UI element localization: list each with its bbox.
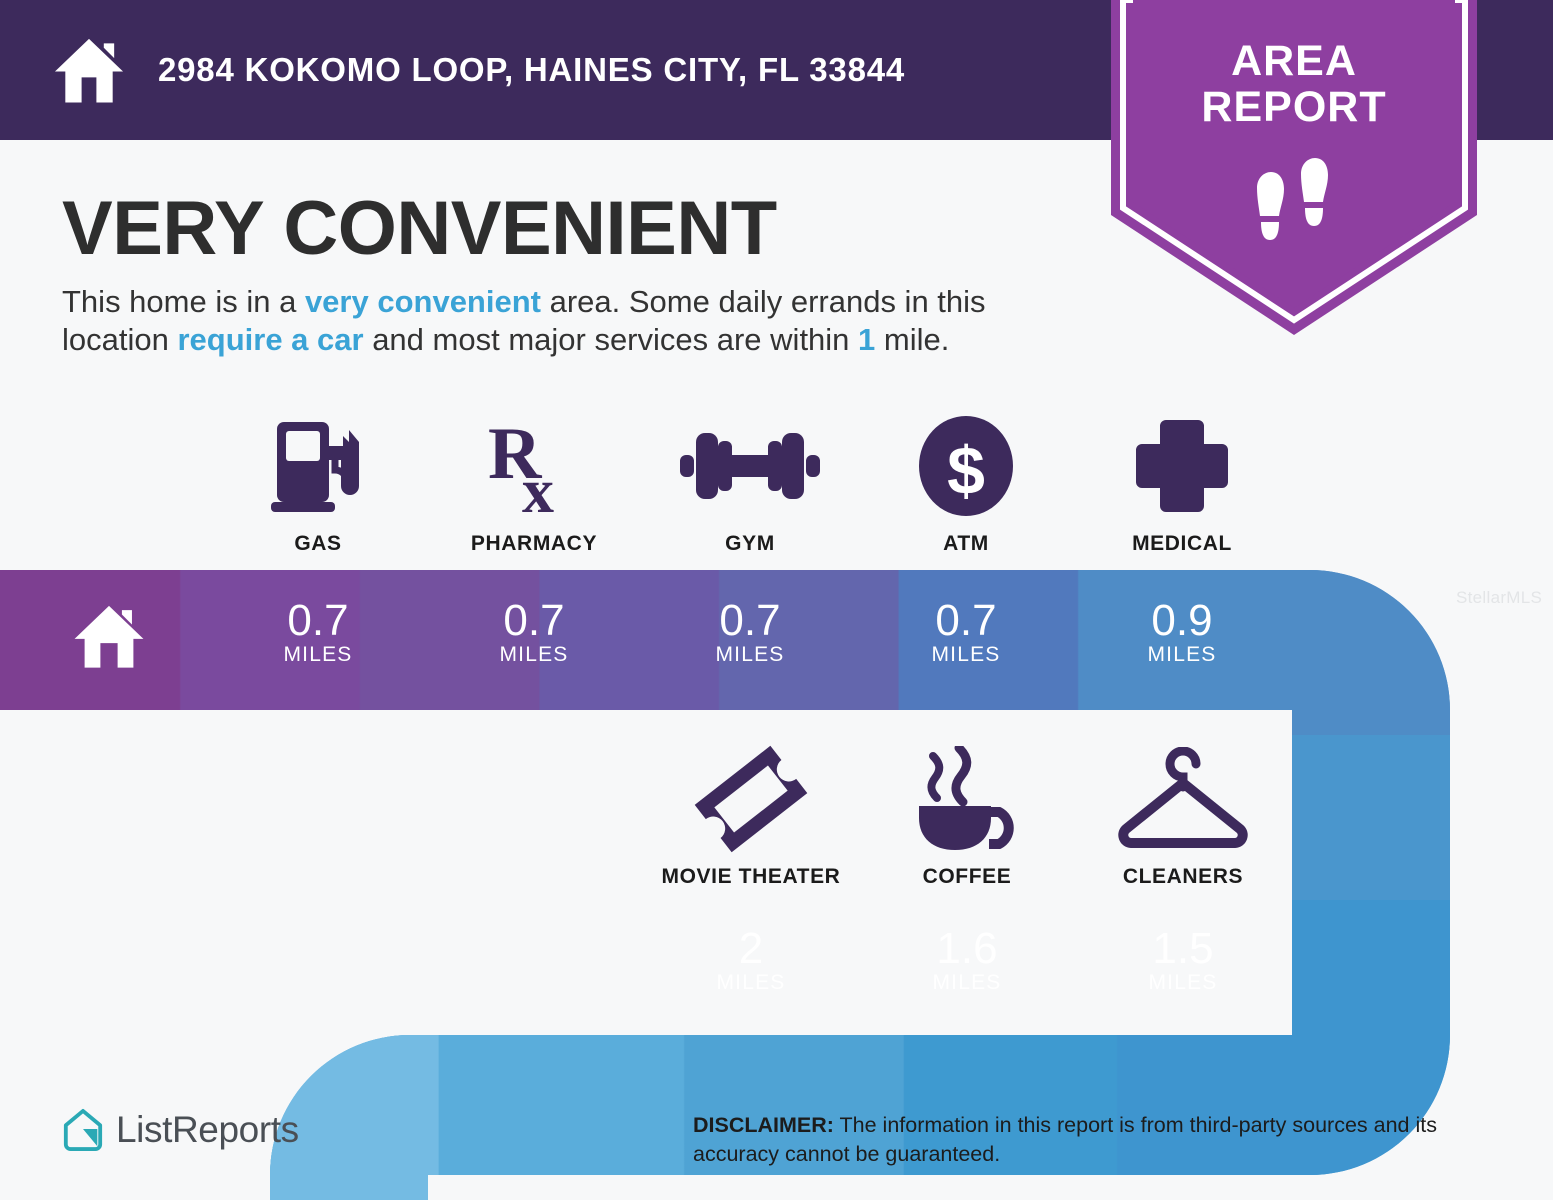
- summary-highlight-2: require a car: [177, 322, 363, 357]
- listreports-logo: ListReports: [62, 1108, 299, 1152]
- summary-part-3: and most major services are within: [364, 322, 858, 357]
- summary-highlight-3: 1: [858, 322, 875, 357]
- summary-part-1: This home is in a: [62, 284, 305, 319]
- movie-ticket-icon: [693, 745, 809, 853]
- amenity-label: PHARMACY: [471, 532, 597, 556]
- summary-highlight-1: very convenient: [305, 284, 541, 319]
- footprints-icon: [1243, 158, 1345, 250]
- amenity-label: MOVIE THEATER: [662, 865, 841, 889]
- amenity-coffee: COFFEE: [859, 745, 1075, 889]
- disclaimer-label: DISCLAIMER:: [693, 1113, 834, 1137]
- amenity-label: GAS: [294, 532, 341, 556]
- dumbbell-icon: [680, 412, 820, 520]
- amenity-icon-row-primary: GAS R x PHARMACY GYM: [210, 412, 1290, 556]
- mls-watermark: StellarMLS: [1456, 588, 1542, 608]
- home-icon: [52, 33, 126, 107]
- amenity-cleaners: CLEANERS: [1075, 745, 1291, 889]
- coffee-cup-icon: [915, 745, 1019, 853]
- prescription-rx-icon: R x: [484, 412, 584, 520]
- amenity-movie-theater: MOVIE THEATER: [643, 745, 859, 889]
- amenity-pharmacy: R x PHARMACY: [426, 412, 642, 556]
- svg-text:$: $: [947, 433, 985, 509]
- listreports-house-icon: [62, 1108, 104, 1152]
- area-report-badge: AREA REPORT: [1111, 0, 1477, 335]
- page-title: VERY CONVENIENT: [62, 185, 777, 272]
- disclaimer: DISCLAIMER: The information in this repo…: [693, 1111, 1513, 1169]
- amenity-label: ATM: [943, 532, 989, 556]
- amenity-gym: GYM: [642, 412, 858, 556]
- gas-pump-icon: [269, 412, 367, 520]
- amenity-label: CLEANERS: [1123, 865, 1243, 889]
- dollar-circle-icon: $: [916, 412, 1016, 520]
- property-address: 2984 KOKOMO LOOP, HAINES CITY, FL 33844: [158, 51, 905, 89]
- amenity-atm: $ ATM: [858, 412, 1074, 556]
- amenity-gas: GAS: [210, 412, 426, 556]
- home-marker-icon: [73, 603, 145, 669]
- amenity-label: GYM: [725, 532, 775, 556]
- amenity-medical: MEDICAL: [1074, 412, 1290, 556]
- amenity-label: MEDICAL: [1132, 532, 1232, 556]
- summary-part-4: mile.: [875, 322, 949, 357]
- listreports-wordmark: ListReports: [116, 1109, 299, 1151]
- summary-text: This home is in a very convenient area. …: [62, 283, 1097, 359]
- clothes-hanger-icon: [1118, 745, 1248, 853]
- amenity-icon-row-secondary: MOVIE THEATER COFFEE CLEANERS: [643, 745, 1291, 889]
- medical-cross-icon: [1132, 412, 1232, 520]
- svg-text:x: x: [522, 455, 554, 516]
- amenity-label: COFFEE: [923, 865, 1012, 889]
